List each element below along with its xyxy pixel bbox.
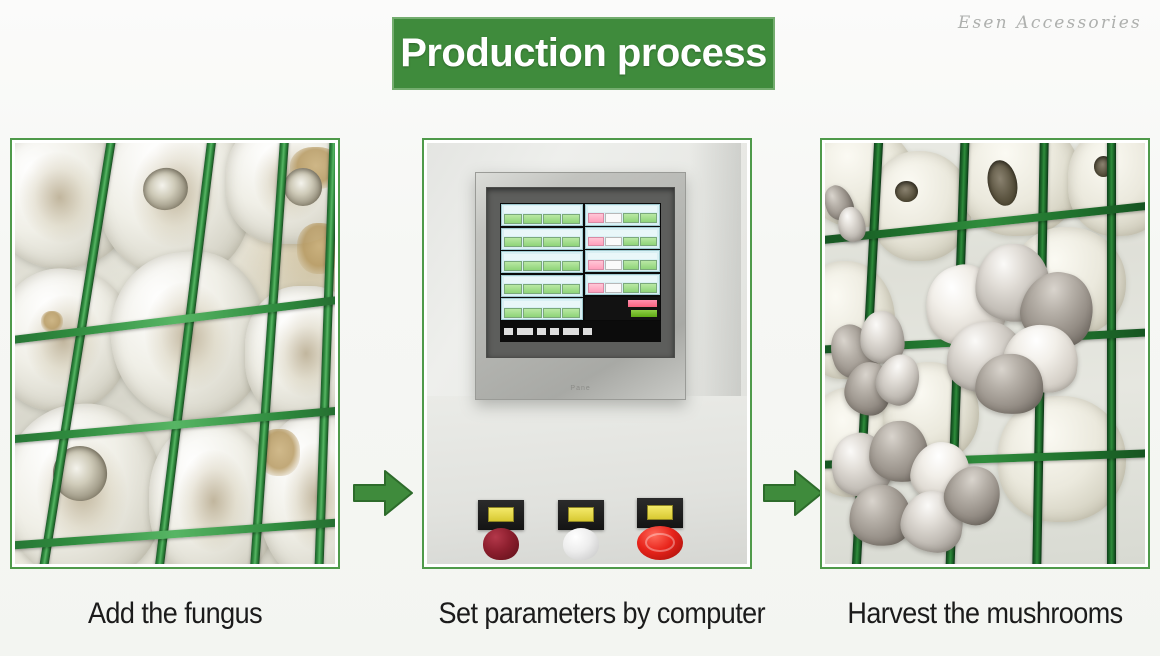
watermark-text: Esen Accessories — [958, 13, 1142, 33]
step-3-caption: Harvest the mushrooms — [837, 597, 1134, 631]
process-steps-row: Add the fungus — [0, 138, 1160, 648]
arrow-step1-to-step2 — [352, 468, 414, 518]
process-step-3: Harvest the mushrooms — [820, 138, 1150, 631]
mushroom-cluster — [921, 244, 1100, 421]
hmi-brand-label: Pane — [476, 385, 685, 392]
right-arrow-icon — [762, 468, 824, 518]
hmi-panel: Pane — [475, 172, 686, 399]
process-step-2: Pane — [422, 138, 752, 631]
start-button[interactable] — [478, 500, 524, 560]
page-title: Production process — [400, 31, 767, 76]
stop-button[interactable] — [558, 500, 604, 560]
step-3-photo-frame — [820, 138, 1150, 569]
page-title-banner: Production process — [392, 17, 775, 90]
hmi-cancel-button[interactable] — [628, 300, 657, 307]
right-arrow-icon — [352, 468, 414, 518]
hmi-confirm-button[interactable] — [631, 310, 657, 317]
wire-rack-overlay — [15, 143, 335, 564]
mushroom-cluster — [831, 421, 1004, 564]
step-1-photo — [15, 143, 335, 564]
process-step-1: Add the fungus — [10, 138, 340, 631]
hmi-screen[interactable] — [500, 203, 660, 342]
mushroom-cluster — [831, 311, 927, 437]
mushroom-cluster — [825, 185, 870, 252]
step-1-caption: Add the fungus — [27, 597, 324, 631]
hmi-status-bar — [500, 321, 660, 342]
step-2-caption: Set parameters by computer — [439, 597, 736, 631]
step-2-photo-frame: Pane — [422, 138, 752, 569]
step-3-photo — [825, 143, 1145, 564]
arrow-step2-to-step3 — [762, 468, 824, 518]
emergency-stop-button[interactable] — [637, 498, 683, 560]
pushbutton-row — [478, 498, 683, 560]
step-1-photo-frame — [10, 138, 340, 569]
step-2-photo: Pane — [427, 143, 747, 564]
